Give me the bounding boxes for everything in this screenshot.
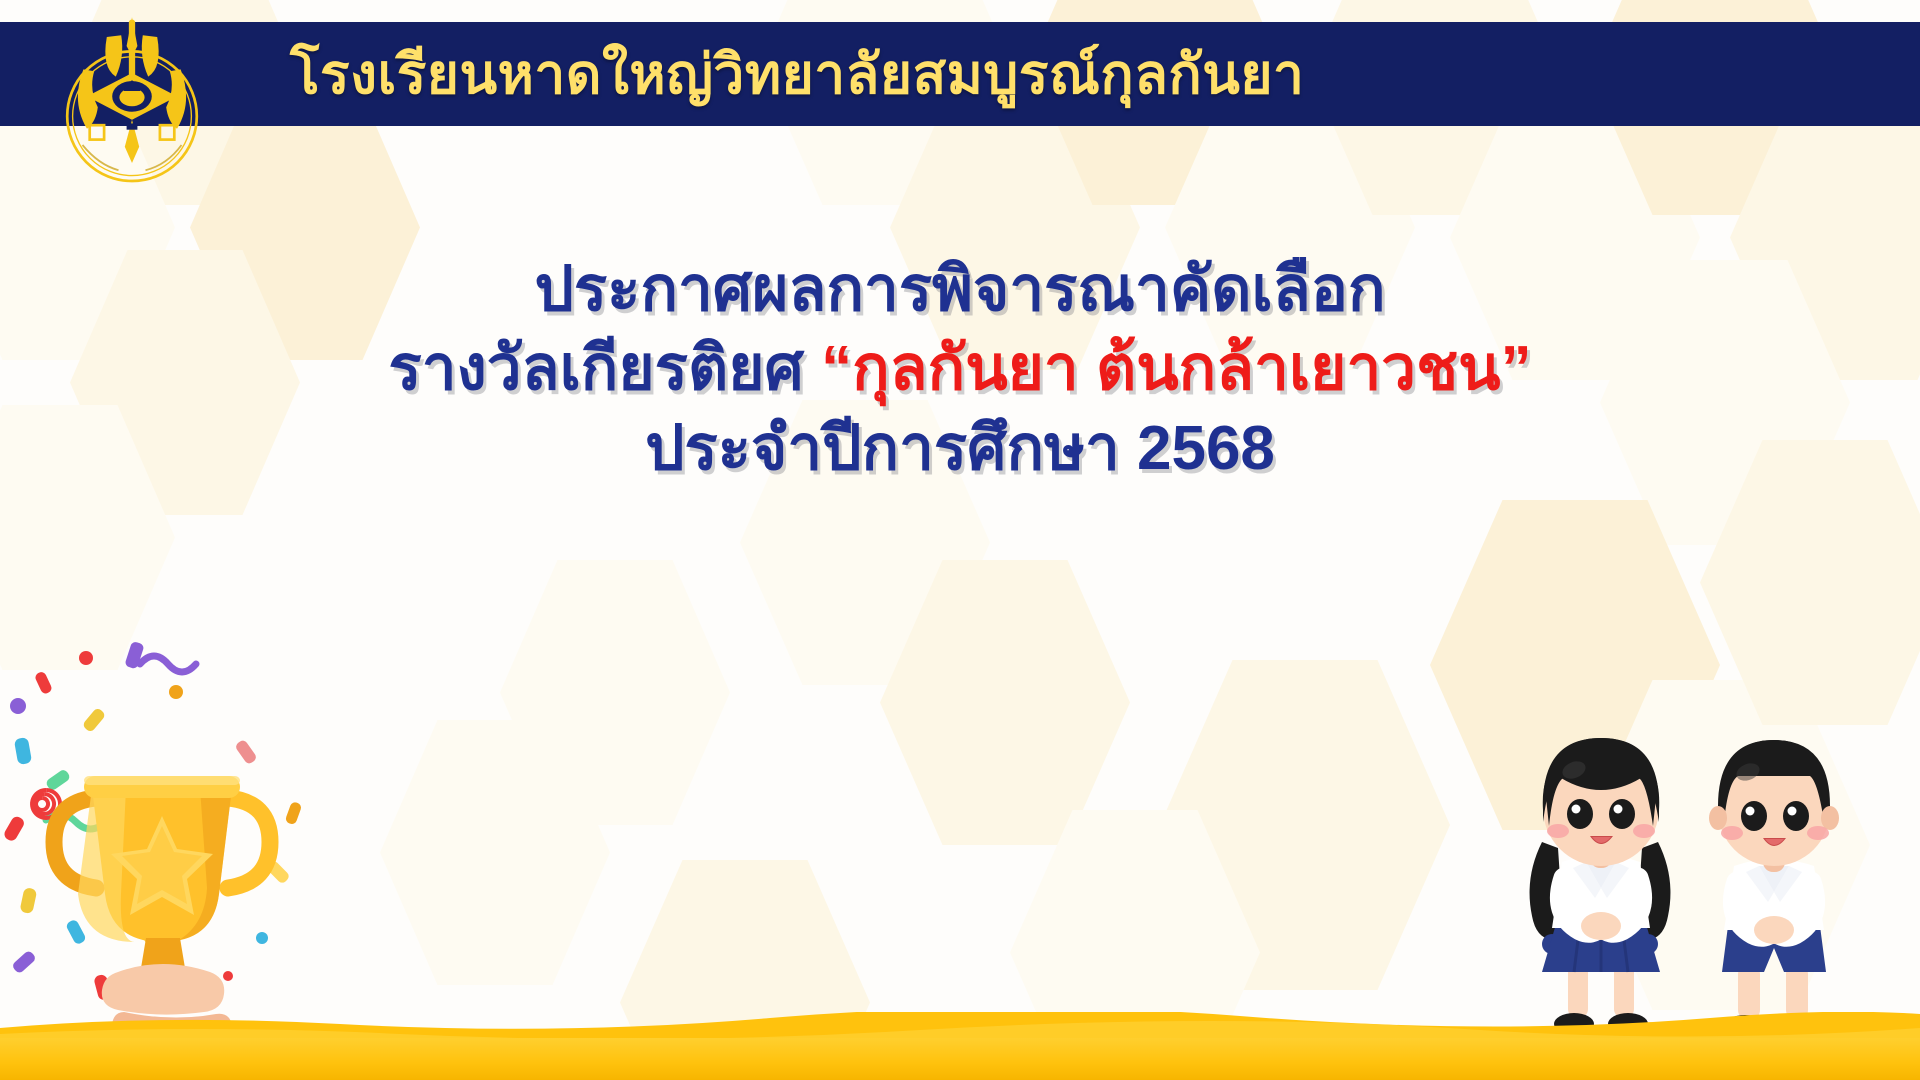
title-line-1: ประกาศผลการพิจารณาคัดเลือก: [0, 255, 1920, 324]
girl-student: [1530, 738, 1671, 1035]
title-quote-close: ”: [1501, 334, 1532, 403]
header-bar: โรงเรียนหาดใหญ่วิทยาลัยสมบูรณ์กุลกันยา: [0, 22, 1920, 126]
title-line-2: รางวัลเกียรติยศ “กุลกันยา ต้นกล้าเยาวชน”: [0, 334, 1920, 403]
trophy-cup: [54, 776, 270, 974]
title-line-2-prefix: รางวัลเกียรติยศ: [388, 334, 821, 403]
title-quote-open: “: [821, 334, 852, 403]
title-award-name: กุลกันยา ต้นกล้าเยาวชน: [852, 334, 1500, 403]
student-characters-illustration: [1490, 692, 1910, 1052]
banner-canvas: โรงเรียนหาดใหญ่วิทยาลัยสมบูรณ์กุลกันยา: [0, 0, 1920, 1080]
school-emblem-icon: [42, 10, 222, 190]
school-name-title: โรงเรียนหาดใหญ่วิทยาลัยสมบูรณ์กุลกันยา: [290, 47, 1304, 102]
hand-holding-trophy: [92, 964, 242, 1040]
title-line-3: ประจำปีการศึกษา 2568: [0, 414, 1920, 483]
title-line-1-text: ประกาศผลการพิจารณาคัดเลือก: [535, 255, 1386, 324]
bottom-gold-band: [0, 1038, 1920, 1080]
trophy-illustration: [0, 620, 360, 1040]
announcement-title-block: ประกาศผลการพิจารณาคัดเลือก รางวัลเกียรติ…: [0, 255, 1920, 483]
title-line-3-text: ประจำปีการศึกษา 2568: [645, 414, 1275, 483]
boy-student: [1709, 740, 1839, 1037]
